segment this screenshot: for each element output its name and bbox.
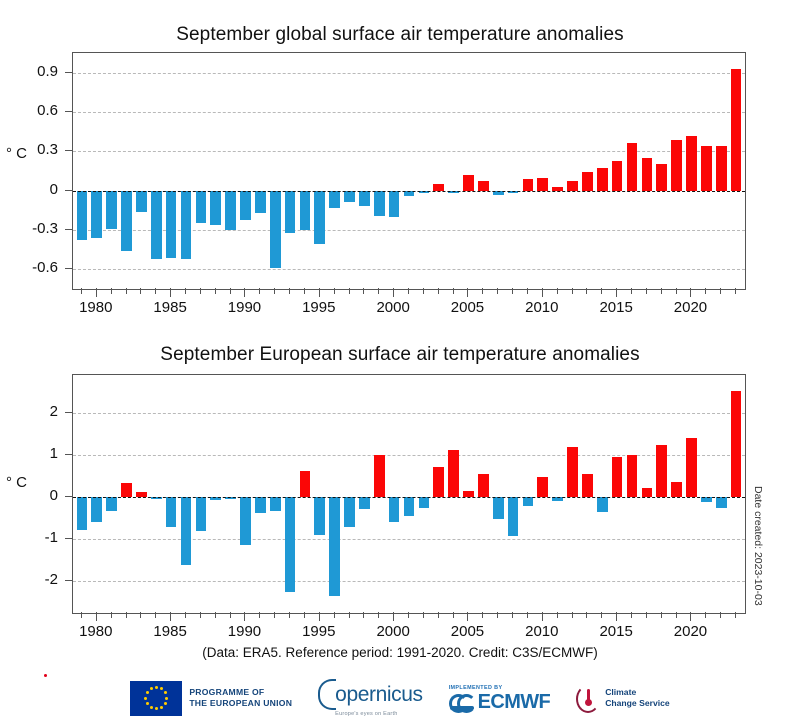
copernicus-word: opernicus xyxy=(335,684,422,705)
bar xyxy=(151,191,162,259)
x-tick-mark xyxy=(586,612,587,618)
copernicus-arc-icon xyxy=(318,679,336,710)
bar xyxy=(77,497,88,530)
x-tick-mark xyxy=(170,612,171,621)
x-tick-mark xyxy=(96,612,97,621)
bar xyxy=(255,497,266,513)
logo-bar: PROGRAMME OF THE EUROPEAN UNION opernicu… xyxy=(0,672,800,724)
y-tick-mark xyxy=(65,190,72,191)
x-tick-label: 2015 xyxy=(586,299,646,316)
bar xyxy=(582,474,593,497)
x-tick-mark xyxy=(319,288,320,297)
x-tick-mark xyxy=(601,288,602,294)
x-tick-mark xyxy=(408,612,409,618)
y-tick-label: -1 xyxy=(0,529,58,546)
x-tick-mark xyxy=(631,612,632,618)
x-tick-mark xyxy=(126,612,127,618)
x-tick-mark xyxy=(304,288,305,294)
x-tick-mark xyxy=(393,612,394,621)
x-tick-label: 1985 xyxy=(140,623,200,640)
x-tick-mark xyxy=(244,288,245,297)
x-tick-label: 2020 xyxy=(660,299,720,316)
x-tick-mark xyxy=(646,612,647,618)
x-tick-mark xyxy=(527,288,528,294)
y-tick-mark xyxy=(65,538,72,539)
x-tick-mark xyxy=(557,288,558,294)
x-tick-mark xyxy=(616,288,617,297)
zero-line xyxy=(73,191,745,192)
bar xyxy=(701,146,712,191)
eu-flag-icon xyxy=(130,681,182,716)
x-tick-label: 2020 xyxy=(660,623,720,640)
x-tick-mark xyxy=(334,288,335,294)
chart-europe-title: September European surface air temperatu… xyxy=(0,344,800,366)
y-tick-label: -2 xyxy=(0,571,58,588)
bar xyxy=(656,164,667,190)
x-tick-mark xyxy=(244,612,245,621)
y-tick-label: 0.9 xyxy=(0,63,58,80)
x-tick-mark xyxy=(215,612,216,618)
copernicus-dot-icon xyxy=(44,674,47,677)
bar xyxy=(567,447,578,498)
bar xyxy=(389,191,400,217)
climate-change-service-logo: Climate Change Service xyxy=(576,685,669,711)
bar xyxy=(181,191,192,259)
ecmwf-globe-icon xyxy=(449,692,475,711)
zero-line xyxy=(73,497,745,498)
x-tick-mark xyxy=(661,288,662,294)
x-tick-mark xyxy=(140,612,141,618)
x-tick-mark xyxy=(661,612,662,618)
bar xyxy=(270,191,281,268)
x-tick-label: 1995 xyxy=(289,623,349,640)
x-tick-mark xyxy=(274,288,275,294)
x-tick-label: 1980 xyxy=(66,299,126,316)
bar xyxy=(196,191,207,224)
y-tick-mark xyxy=(65,580,72,581)
x-tick-label: 2000 xyxy=(363,623,423,640)
x-tick-mark xyxy=(393,288,394,297)
bar xyxy=(671,140,682,191)
y-tick-mark xyxy=(65,268,72,269)
x-tick-mark xyxy=(705,612,706,618)
bar xyxy=(359,191,370,207)
x-tick-label: 2005 xyxy=(437,299,497,316)
bar xyxy=(627,143,638,190)
x-tick-mark xyxy=(200,288,201,294)
bar-series xyxy=(73,375,745,613)
x-tick-label: 2010 xyxy=(512,299,572,316)
x-tick-mark xyxy=(423,288,424,294)
bar xyxy=(91,191,102,238)
y-tick-mark xyxy=(65,496,72,497)
bar xyxy=(344,191,355,203)
bar xyxy=(433,467,444,497)
x-tick-mark xyxy=(111,612,112,618)
bar xyxy=(597,497,608,512)
x-tick-mark xyxy=(453,612,454,618)
x-tick-label: 1980 xyxy=(66,623,126,640)
x-tick-label: 1985 xyxy=(140,299,200,316)
bar xyxy=(314,497,325,535)
eu-logo-line1: PROGRAMME OF xyxy=(189,687,292,698)
bar xyxy=(523,179,534,191)
bar xyxy=(270,497,281,511)
x-tick-mark xyxy=(200,612,201,618)
x-tick-mark xyxy=(646,288,647,294)
bar xyxy=(285,191,296,233)
bar xyxy=(731,391,742,497)
x-tick-mark xyxy=(690,612,691,621)
x-tick-mark xyxy=(126,288,127,294)
copernicus-tagline: Europe's eyes on Earth xyxy=(335,711,397,717)
bar xyxy=(523,497,534,505)
y-tick-mark xyxy=(65,72,72,73)
bar xyxy=(716,497,727,508)
x-tick-mark xyxy=(467,612,468,621)
bar xyxy=(314,191,325,245)
x-tick-mark xyxy=(690,288,691,297)
x-tick-mark xyxy=(259,288,260,294)
ecmwf-wordmark: ECMWF xyxy=(449,692,551,712)
y-tick-label: 0 xyxy=(0,181,58,198)
x-tick-mark xyxy=(482,612,483,618)
copernicus-wordmark: opernicus xyxy=(318,679,422,710)
x-tick-label: 1990 xyxy=(214,623,274,640)
bar xyxy=(210,191,221,225)
x-tick-mark xyxy=(676,288,677,294)
bar xyxy=(537,477,548,498)
bar xyxy=(240,191,251,220)
bar xyxy=(225,191,236,230)
x-tick-mark xyxy=(230,612,231,618)
bar xyxy=(627,455,638,497)
y-tick-label: 2 xyxy=(0,403,58,420)
ccs-line2: Change Service xyxy=(605,698,669,709)
eu-logo-text: PROGRAMME OF THE EUROPEAN UNION xyxy=(189,687,292,708)
bar xyxy=(537,178,548,191)
x-tick-mark xyxy=(735,288,736,294)
x-tick-label: 2000 xyxy=(363,299,423,316)
x-tick-mark xyxy=(512,612,513,618)
x-tick-mark xyxy=(155,288,156,294)
thermometer-icon xyxy=(576,685,600,711)
x-tick-label: 1995 xyxy=(289,299,349,316)
bar xyxy=(196,497,207,531)
bar xyxy=(389,497,400,521)
ccs-logo-text: Climate Change Service xyxy=(605,687,669,709)
bar xyxy=(493,497,504,519)
bar xyxy=(448,450,459,497)
bar xyxy=(478,474,489,497)
y-tick-label: 1 xyxy=(0,445,58,462)
y-tick-mark xyxy=(65,111,72,112)
eu-logo: PROGRAMME OF THE EUROPEAN UNION xyxy=(130,681,292,716)
x-tick-mark xyxy=(631,288,632,294)
x-tick-mark xyxy=(601,612,602,618)
ccs-line1: Climate xyxy=(605,687,669,698)
x-tick-mark xyxy=(497,612,498,618)
bar xyxy=(686,136,697,191)
x-tick-mark xyxy=(572,288,573,294)
x-tick-mark xyxy=(289,612,290,618)
x-tick-mark xyxy=(497,288,498,294)
x-tick-mark xyxy=(274,612,275,618)
y-tick-label: -0.6 xyxy=(0,259,58,276)
bar xyxy=(77,191,88,241)
x-tick-mark xyxy=(96,288,97,297)
bar xyxy=(686,438,697,497)
bar xyxy=(106,497,117,510)
x-tick-mark xyxy=(438,288,439,294)
bar xyxy=(255,191,266,213)
x-tick-mark xyxy=(408,288,409,294)
bar xyxy=(329,191,340,208)
x-tick-mark xyxy=(527,612,528,618)
bar xyxy=(136,191,147,212)
x-tick-mark xyxy=(81,612,82,618)
y-tick-label: 0.3 xyxy=(0,141,58,158)
bar xyxy=(285,497,296,592)
bar xyxy=(612,161,623,191)
x-tick-mark xyxy=(512,288,513,294)
bar xyxy=(91,497,102,521)
y-tick-mark xyxy=(65,412,72,413)
x-tick-label: 2015 xyxy=(586,623,646,640)
x-tick-mark xyxy=(215,288,216,294)
bar xyxy=(374,191,385,216)
x-tick-label: 2005 xyxy=(437,623,497,640)
x-tick-mark xyxy=(482,288,483,294)
date-created-stamp: Date created: 2023-10-03 xyxy=(752,486,764,606)
chart-global-title: September global surface air temperature… xyxy=(0,24,800,46)
bar xyxy=(344,497,355,527)
x-tick-mark xyxy=(349,288,350,294)
x-tick-mark xyxy=(572,612,573,618)
x-tick-label: 2010 xyxy=(512,623,572,640)
x-tick-mark xyxy=(155,612,156,618)
bar xyxy=(359,497,370,509)
bar xyxy=(181,497,192,564)
x-tick-mark xyxy=(423,612,424,618)
figure-caption: (Data: ERA5. Reference period: 1991-2020… xyxy=(0,645,800,660)
x-tick-mark xyxy=(378,288,379,294)
bar xyxy=(374,455,385,497)
bar xyxy=(597,168,608,190)
x-tick-mark xyxy=(735,612,736,618)
y-tick-mark xyxy=(65,454,72,455)
bar xyxy=(508,497,519,536)
x-tick-mark xyxy=(170,288,171,297)
implemented-by-label: IMPLEMENTED BY xyxy=(449,685,503,691)
ecmwf-word: ECMWF xyxy=(478,692,551,712)
bar xyxy=(106,191,117,229)
x-tick-mark xyxy=(676,612,677,618)
x-tick-mark xyxy=(438,612,439,618)
x-tick-mark xyxy=(542,288,543,297)
x-tick-mark xyxy=(319,612,320,621)
x-tick-mark xyxy=(363,612,364,618)
bar xyxy=(671,482,682,497)
copernicus-logo: opernicus Europe's eyes on Earth xyxy=(318,679,422,717)
x-tick-mark xyxy=(720,288,721,294)
bar xyxy=(582,172,593,190)
x-tick-mark xyxy=(586,288,587,294)
x-tick-mark xyxy=(720,612,721,618)
x-tick-mark xyxy=(81,288,82,294)
x-tick-mark xyxy=(304,612,305,618)
bar xyxy=(166,497,177,527)
x-tick-mark xyxy=(185,288,186,294)
bar xyxy=(300,191,311,230)
bar xyxy=(642,488,653,497)
ecmwf-logo: IMPLEMENTED BY ECMWF xyxy=(449,685,551,712)
y-tick-label: 0.6 xyxy=(0,102,58,119)
x-tick-mark xyxy=(140,288,141,294)
bar xyxy=(478,181,489,190)
x-tick-mark xyxy=(334,612,335,618)
y-tick-label: -0.3 xyxy=(0,220,58,237)
x-tick-mark xyxy=(289,288,290,294)
x-tick-mark xyxy=(453,288,454,294)
x-tick-label: 1990 xyxy=(214,299,274,316)
x-tick-mark xyxy=(467,288,468,297)
x-tick-mark xyxy=(616,612,617,621)
bar xyxy=(731,69,742,191)
x-tick-mark xyxy=(349,612,350,618)
bar xyxy=(166,191,177,258)
y-tick-label: 0 xyxy=(0,487,58,504)
bar xyxy=(240,497,251,545)
x-tick-mark xyxy=(542,612,543,621)
x-tick-mark xyxy=(363,288,364,294)
eu-logo-line2: THE EUROPEAN UNION xyxy=(189,698,292,709)
bar xyxy=(329,497,340,596)
bar xyxy=(463,175,474,191)
bar xyxy=(121,483,132,497)
bar xyxy=(121,191,132,251)
bar xyxy=(642,158,653,191)
y-tick-mark xyxy=(65,229,72,230)
bar xyxy=(419,497,430,508)
y-tick-mark xyxy=(65,150,72,151)
x-tick-mark xyxy=(378,612,379,618)
chart-global-plot-area xyxy=(72,52,746,290)
x-tick-mark xyxy=(185,612,186,618)
bar-series xyxy=(73,53,745,289)
chart-europe-plot-area xyxy=(72,374,746,614)
bar xyxy=(716,146,727,191)
bar xyxy=(567,181,578,190)
bar xyxy=(656,445,667,498)
x-tick-mark xyxy=(259,612,260,618)
bar xyxy=(300,471,311,497)
x-tick-mark xyxy=(230,288,231,294)
bar xyxy=(612,457,623,497)
x-tick-mark xyxy=(705,288,706,294)
x-tick-mark xyxy=(111,288,112,294)
bar xyxy=(404,497,415,516)
x-tick-mark xyxy=(557,612,558,618)
